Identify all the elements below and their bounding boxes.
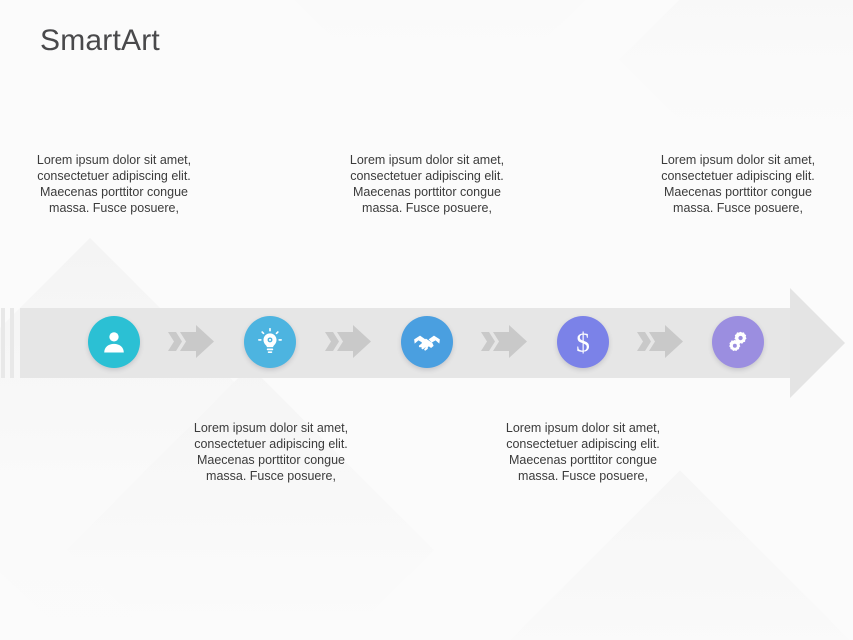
watermark-chevron	[66, 366, 434, 640]
connector-arrow-4	[637, 325, 683, 358]
lightbulb-icon	[256, 328, 284, 356]
right-arrow-icon	[481, 332, 495, 351]
caption-step-1: Lorem ipsum dolor sit amet, consectetuer…	[28, 152, 200, 216]
connector-arrow-2	[325, 325, 371, 358]
banner-arrowhead	[790, 288, 845, 398]
dollar-icon: $	[568, 327, 598, 357]
step-5-icon-circle[interactable]	[712, 316, 764, 368]
connector-arrow-3	[481, 325, 527, 358]
process-nodes-layer: $	[0, 0, 853, 640]
step-2-icon-circle[interactable]	[244, 316, 296, 368]
watermark-chevron	[510, 470, 849, 640]
step-3-icon-circle[interactable]	[401, 316, 453, 368]
step-4-icon-circle[interactable]: $	[557, 316, 609, 368]
right-arrow-icon	[649, 325, 683, 358]
step-1-icon-circle[interactable]	[88, 316, 140, 368]
right-arrow-icon	[325, 332, 339, 351]
handshake-icon	[412, 327, 442, 357]
right-arrow-icon	[168, 332, 182, 351]
caption-step-4: Lorem ipsum dolor sit amet, consectetuer…	[497, 420, 669, 484]
right-arrow-icon	[637, 332, 651, 351]
page-title: SmartArt	[40, 24, 160, 58]
caption-step-3: Lorem ipsum dolor sit amet, consectetuer…	[341, 152, 513, 216]
right-arrow-icon	[180, 325, 214, 358]
banner-tick-bar-1	[1, 308, 5, 378]
gears-icon	[724, 328, 752, 356]
banner-tick-bar-2	[10, 308, 14, 378]
connector-arrow-1	[168, 325, 214, 358]
caption-step-2: Lorem ipsum dolor sit amet, consectetuer…	[185, 420, 357, 484]
caption-step-5: Lorem ipsum dolor sit amet, consectetuer…	[652, 152, 824, 216]
person-icon	[100, 328, 128, 356]
watermark-chevron	[284, 0, 595, 146]
svg-text:$: $	[576, 327, 590, 357]
right-arrow-icon	[337, 325, 371, 358]
right-arrow-icon	[493, 325, 527, 358]
